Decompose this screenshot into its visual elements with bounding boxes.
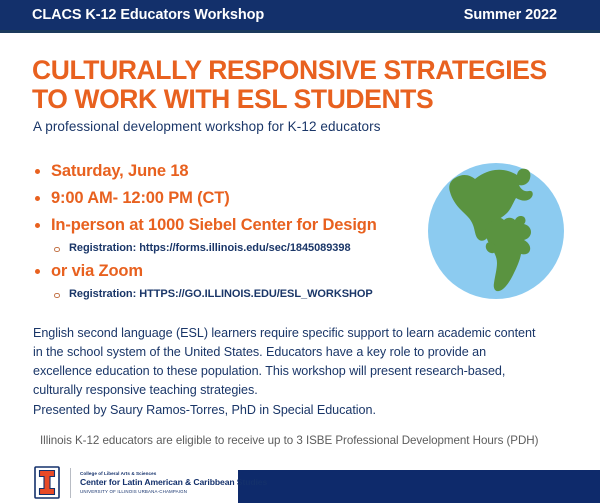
bullet-dot-icon xyxy=(35,169,40,174)
bullet-dot-icon xyxy=(35,196,40,201)
page-title-line-2: TO WORK WITH ESL STUDENTS xyxy=(32,85,532,114)
page-title: CULTURALLY RESPONSIVE STRATEGIES TO WORK… xyxy=(32,56,532,114)
university-name: UNIVERSITY OF ILLINOIS URBANA-CHAMPAIGN xyxy=(80,489,267,494)
presenter-line: Presented by Saury Ramos-Torres, PhD in … xyxy=(33,401,573,420)
list-item-label: 9:00 AM- 12:00 PM (CT) xyxy=(51,189,230,207)
logo-divider xyxy=(70,468,71,498)
description-line-3: excellence education to these population… xyxy=(33,362,573,381)
list-item: or via Zoom xyxy=(32,258,432,285)
bullet-dot-icon xyxy=(35,223,40,228)
event-details-list: Saturday, June 18 9:00 AM- 12:00 PM (CT)… xyxy=(32,158,432,304)
term-label: Summer 2022 xyxy=(464,7,557,23)
registration-link-label: Registration: HTTPS://GO.ILLINOIS.EDU/ES… xyxy=(69,288,373,300)
list-item: Saturday, June 18 xyxy=(32,158,432,185)
bullet-dot-icon xyxy=(35,269,40,274)
block-i-logo-icon xyxy=(34,466,60,499)
description-line-2: in the school system of the United State… xyxy=(33,343,573,362)
globe-americas-icon xyxy=(425,159,571,302)
pdh-credit-note: Illinois K-12 educators are eligible to … xyxy=(40,434,538,447)
hollow-bullet-icon xyxy=(54,293,60,299)
center-name: Center for Latin American & Caribbean St… xyxy=(80,477,267,487)
workshop-series-title: CLACS K-12 Educators Workshop xyxy=(32,7,264,23)
list-item-label: or via Zoom xyxy=(51,262,143,280)
logo-text-block: College of Liberal Arts & Sciences Cente… xyxy=(80,471,267,495)
registration-link-in-person[interactable]: Registration: https://forms.illinois.edu… xyxy=(52,239,432,258)
description-line-1: English second language (ESL) learners r… xyxy=(33,324,573,343)
page-subtitle: A professional development workshop for … xyxy=(33,119,381,134)
description-paragraph: English second language (ESL) learners r… xyxy=(33,324,573,420)
registration-link-label: Registration: https://forms.illinois.edu… xyxy=(69,242,351,254)
description-line-4: culturally responsive teaching strategie… xyxy=(33,381,573,400)
registration-link-zoom[interactable]: Registration: HTTPS://GO.ILLINOIS.EDU/ES… xyxy=(52,285,432,304)
list-item: 9:00 AM- 12:00 PM (CT) xyxy=(32,185,432,212)
page-title-line-1: CULTURALLY RESPONSIVE STRATEGIES xyxy=(32,56,532,85)
college-name: College of Liberal Arts & Sciences xyxy=(80,471,267,476)
hollow-bullet-icon xyxy=(54,247,60,253)
footer-bar xyxy=(238,470,600,503)
list-item-label: Saturday, June 18 xyxy=(51,162,188,180)
university-logo-lockup: College of Liberal Arts & Sciences Cente… xyxy=(34,466,267,499)
list-item: In-person at 1000 Siebel Center for Desi… xyxy=(32,212,432,239)
list-item-label: In-person at 1000 Siebel Center for Desi… xyxy=(51,216,377,234)
header-bar: CLACS K-12 Educators Workshop Summer 202… xyxy=(0,0,600,33)
